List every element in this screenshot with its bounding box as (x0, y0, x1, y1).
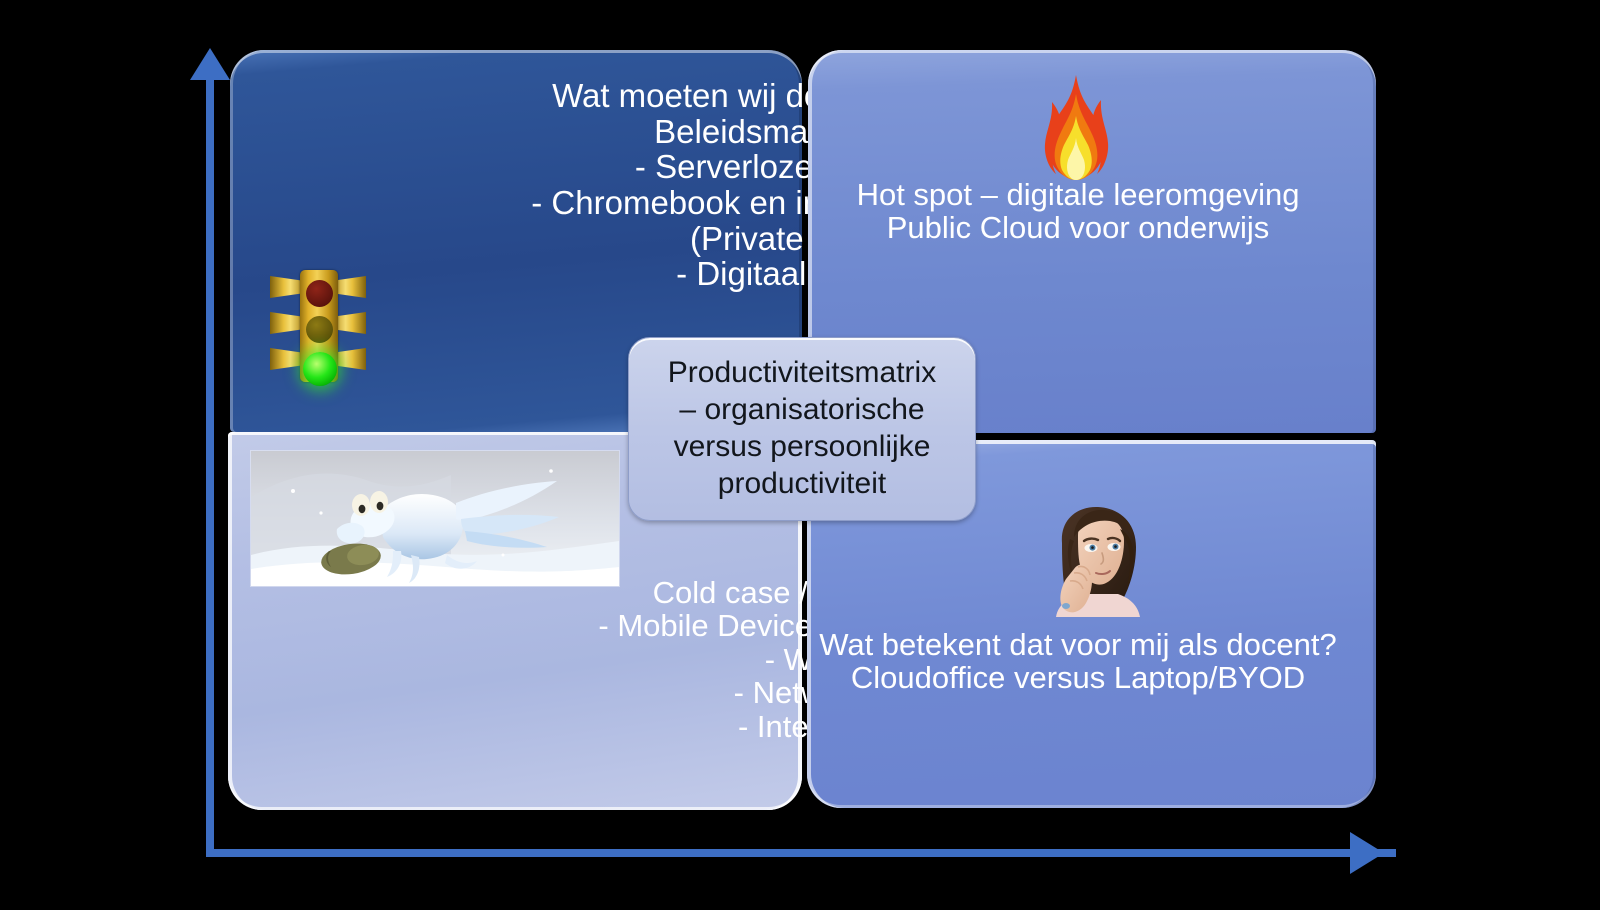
callout-line-4: productiviteit (668, 466, 936, 503)
thinking-woman-photo (1044, 503, 1146, 617)
horizontal-axis-arrow-icon (1350, 832, 1384, 874)
traffic-lamp-red (306, 280, 333, 307)
productiviteitsmatrix-callout[interactable]: Productiviteitsmatrix – organisatorische… (628, 337, 976, 521)
matrix-diagram: Wat moeten wij doen als bestuur? Beleids… (0, 0, 1600, 910)
quadrant-bottom-right-text: Wat betekent dat voor mij als docent? Cl… (0, 628, 1600, 695)
callout-line-2: – organisatorische (668, 392, 936, 429)
traffic-visor-left-amber (270, 312, 304, 334)
traffic-visor-left-red (270, 276, 304, 298)
traffic-lamp-green (303, 352, 337, 386)
traffic-lamp-amber (306, 316, 333, 343)
fire-icon (1032, 72, 1120, 182)
callout-line-1: Productiviteitsmatrix (668, 355, 936, 392)
tr-line-2: Public Cloud voor onderwijs (556, 211, 1600, 244)
callout-line-3: versus persoonlijke (668, 429, 936, 466)
traffic-light-icon (266, 268, 370, 386)
traffic-visor-left-green (270, 348, 304, 370)
vertical-axis-arrow-icon (190, 48, 230, 80)
quadrant-top-right-text: Hot spot – digitale leeromgeving Public … (0, 178, 1600, 245)
br-line-2: Cloudoffice versus Laptop/BYOD (556, 661, 1600, 694)
frozen-squirrel-image (250, 450, 620, 587)
callout-text: Productiviteitsmatrix – organisatorische… (668, 355, 936, 503)
tr-line-1: Hot spot – digitale leeromgeving (556, 178, 1600, 211)
br-line-1: Wat betekent dat voor mij als docent? (556, 628, 1600, 661)
horizontal-axis-line (206, 849, 1396, 857)
